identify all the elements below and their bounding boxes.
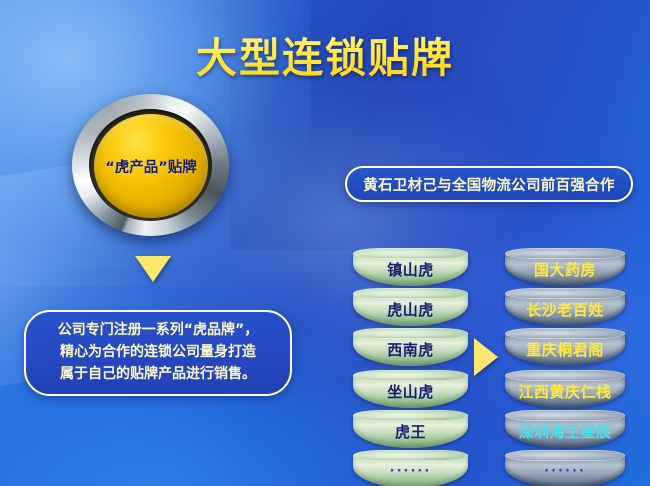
- description-line-3: 属于自己的贴牌产品进行销售。: [58, 364, 258, 386]
- slide-canvas: 大型连锁贴牌 “虎产品”贴牌 黄石卫材己与全国物流公司前百强合作 公司专门注册一…: [0, 0, 650, 486]
- partner-callout: 黄石卫材己与全国物流公司前百强合作: [345, 166, 633, 202]
- chain-label: 江西黄庆仁栈: [518, 381, 611, 402]
- brand-label: 虎王: [395, 421, 426, 442]
- cylinder-top-ellipse: [505, 370, 625, 381]
- chain-cylinder[interactable]: 重庆桐君阁: [505, 328, 625, 366]
- chain-label: 深圳海王星辰: [518, 421, 611, 442]
- cylinder-top-ellipse: [353, 450, 468, 461]
- badge-label: “虎产品”贴牌: [105, 156, 197, 177]
- brand-label: 坐山虎: [387, 381, 434, 402]
- brand-stack-bottom: 坐山虎 虎王 ······: [353, 370, 468, 486]
- chain-label-ellipsis: ······: [544, 464, 586, 479]
- description-callout: 公司专门注册一系列“虎品牌”， 精心为合作的连锁公司量身打造 属于自己的贴牌产品…: [24, 310, 292, 396]
- cylinder-top-ellipse: [505, 288, 625, 299]
- cylinder-top-ellipse: [505, 328, 625, 339]
- brand-label: 虎山虎: [387, 299, 434, 320]
- chain-cylinder[interactable]: 深圳海王星辰: [505, 410, 625, 448]
- cylinder-top-ellipse: [505, 410, 625, 421]
- description-line-2: 精心为合作的连锁公司量身打造: [58, 342, 258, 364]
- badge-gold-face: “虎产品”贴牌: [94, 114, 208, 218]
- cylinder-top-ellipse: [353, 370, 468, 381]
- description-line-1: 公司专门注册一系列“虎品牌”，: [58, 320, 258, 342]
- cylinder-top-ellipse: [505, 450, 625, 461]
- cylinder-top-ellipse: [353, 248, 468, 259]
- chain-stack-top: 国大药房 长沙老百姓 重庆桐君阁: [505, 248, 625, 368]
- chain-stack-bottom: 江西黄庆仁栈 深圳海王星辰 ······: [505, 370, 625, 486]
- brand-cylinder[interactable]: 坐山虎: [353, 370, 468, 408]
- cylinder-top-ellipse: [353, 328, 468, 339]
- chain-label: 重庆桐君阁: [526, 339, 604, 360]
- brand-badge: “虎产品”贴牌: [72, 94, 229, 236]
- cylinder-top-ellipse: [353, 288, 468, 299]
- brand-cylinder[interactable]: 西南虎: [353, 328, 468, 366]
- chain-label: 国大药房: [534, 259, 596, 280]
- brand-label-ellipsis: ······: [390, 464, 432, 479]
- brand-cylinder[interactable]: ······: [353, 450, 468, 486]
- chain-cylinder[interactable]: ······: [505, 450, 625, 486]
- triangle-down-icon: [135, 256, 171, 282]
- page-title: 大型连锁贴牌: [0, 24, 650, 84]
- chain-cylinder[interactable]: 长沙老百姓: [505, 288, 625, 326]
- chain-cylinder[interactable]: 江西黄庆仁栈: [505, 370, 625, 408]
- brand-cylinder[interactable]: 虎山虎: [353, 288, 468, 326]
- brand-label: 镇山虎: [387, 259, 434, 280]
- brand-label: 西南虎: [387, 339, 434, 360]
- cylinder-top-ellipse: [505, 248, 625, 259]
- chain-cylinder[interactable]: 国大药房: [505, 248, 625, 286]
- brand-stack-top: 镇山虎 虎山虎 西南虎: [353, 248, 468, 368]
- triangle-right-icon: [474, 338, 498, 376]
- cylinder-top-ellipse: [353, 410, 468, 421]
- brand-cylinder[interactable]: 镇山虎: [353, 248, 468, 286]
- brand-cylinder[interactable]: 虎王: [353, 410, 468, 448]
- chain-label: 长沙老百姓: [526, 299, 604, 320]
